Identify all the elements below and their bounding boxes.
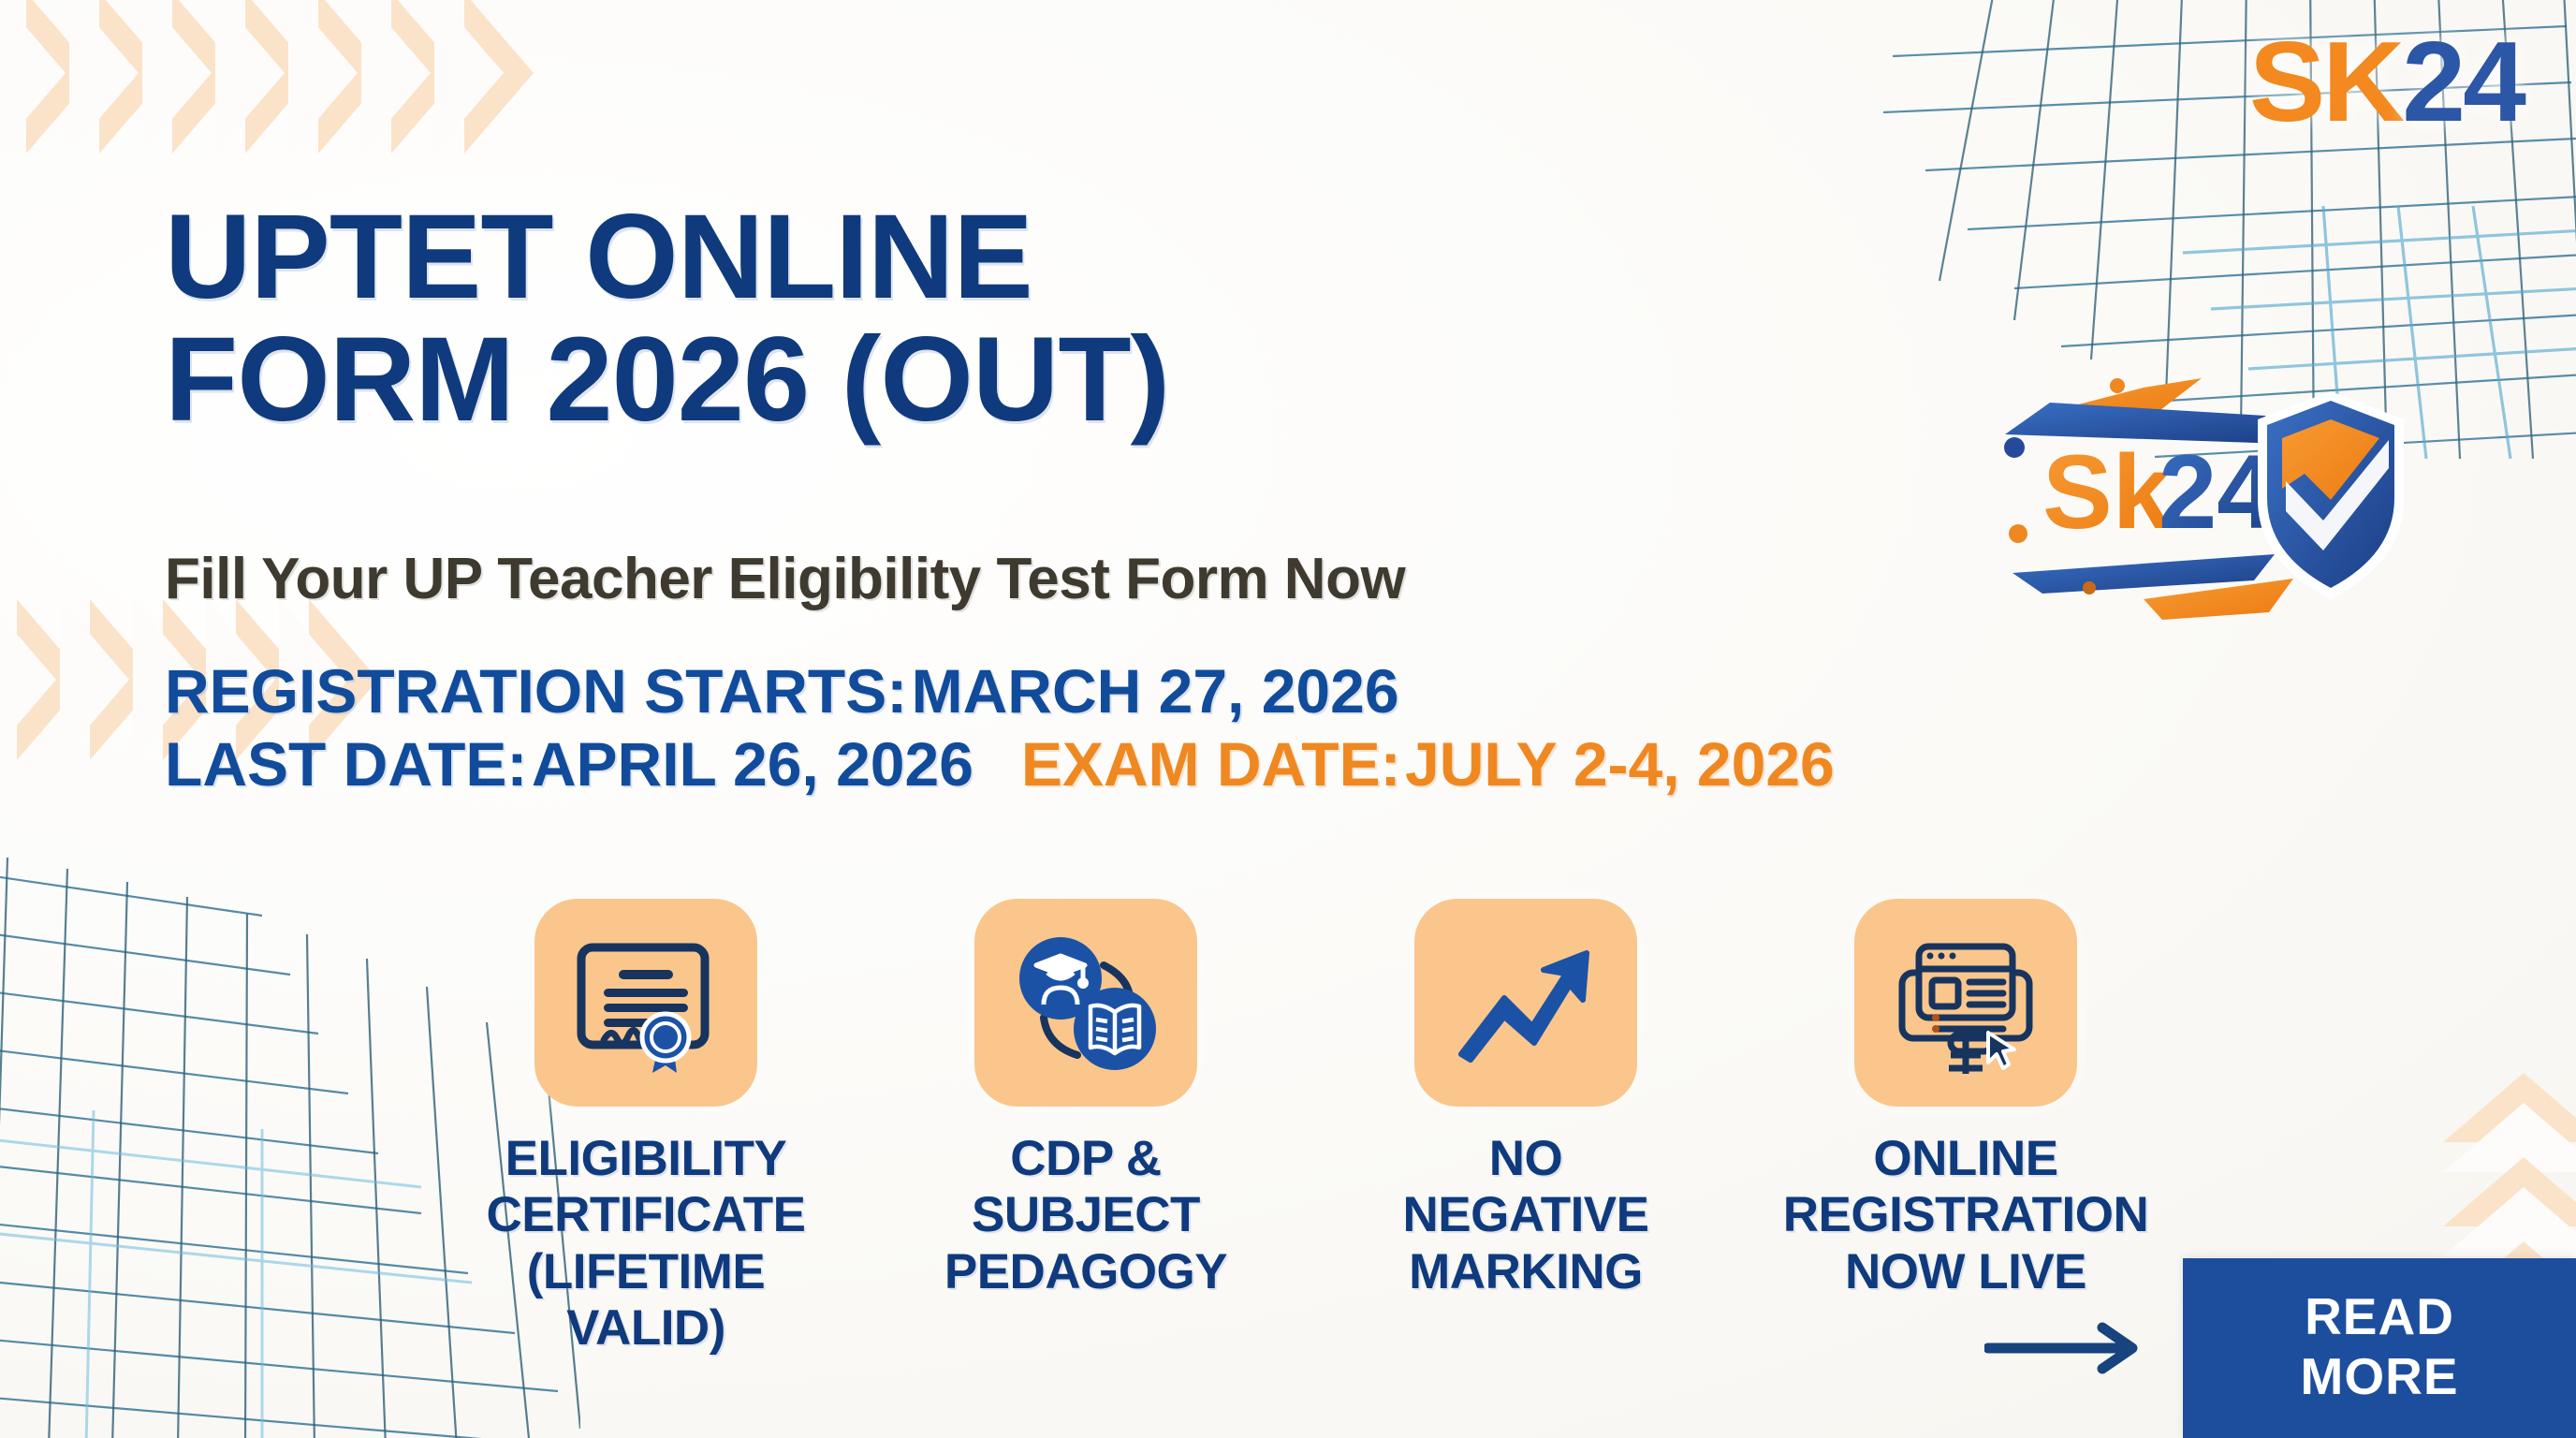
chevron-icon [17, 599, 90, 760]
feature-item: ELIGIBILITY CERTIFICATE (LIFETIME VALID) [449, 899, 842, 1357]
certificate-icon-tile [534, 899, 757, 1107]
headline-line-2: FORM 2026 (OUT) [165, 319, 1169, 442]
chevron-icon [172, 0, 245, 154]
chevron-icon [0, 0, 26, 154]
registration-date-line: REGISTRATION STARTS: MARCH 27, 2026 [165, 655, 1835, 728]
feature-item: NO NEGATIVE MARKING [1329, 899, 1722, 1300]
chevron-icon [464, 0, 537, 154]
chevron-icon [26, 0, 99, 154]
feature-label: ELIGIBILITY CERTIFICATE (LIFETIME VALID) [487, 1131, 806, 1357]
chevron-icon [391, 0, 464, 154]
brand-logo-top[interactable]: SK24 [2249, 24, 2524, 139]
graduate-book-icon [1006, 932, 1165, 1074]
certificate-icon [566, 932, 725, 1073]
chevron-icon [0, 599, 17, 760]
feature-list: ELIGIBILITY CERTIFICATE (LIFETIME VALID) [449, 899, 2162, 1357]
chevron-icon [245, 0, 318, 154]
registration-label: REGISTRATION STARTS: [165, 656, 907, 726]
feature-label: CDP & SUBJECT PEDAGOGY [944, 1131, 1227, 1300]
page-title: UPTET ONLINE FORM 2026 (OUT) [165, 197, 1169, 441]
trending-up-arrow-icon-tile [1414, 899, 1637, 1107]
emblem-text-24: 24 [2159, 433, 2276, 550]
chevron-icon [318, 0, 391, 154]
registration-value: MARCH 27, 2026 [912, 656, 1399, 726]
feature-item: CDP & SUBJECT PEDAGOGY [889, 899, 1282, 1300]
promo-banner: SK24 UPTET ONLINE FORM 2026 (OUT) Fill Y… [0, 0, 2576, 1438]
exam-date-value: JULY 2-4, 2026 [1405, 729, 1835, 799]
feature-item: ONLINE REGISTRATION NOW LIVE [1769, 899, 2162, 1300]
emblem-text-sk: Sk [2042, 433, 2172, 550]
page-subtitle: Fill Your UP Teacher Eligibility Test Fo… [165, 546, 1405, 612]
chevron-up-icon [2443, 1157, 2576, 1241]
read-more-button[interactable]: READ MORE [2183, 1258, 2576, 1438]
online-form-monitor-icon-tile [1854, 899, 2077, 1107]
shield-check-icon [2258, 391, 2404, 599]
last-and-exam-date-line: LAST DATE: APRIL 26, 2026 EXAM DATE: JUL… [165, 728, 1835, 801]
brand-logo-sk: SK [2249, 18, 2402, 145]
headline-line-1: UPTET ONLINE [165, 197, 1169, 319]
chevron-pattern-top-left [0, 0, 537, 154]
key-dates-block: REGISTRATION STARTS: MARCH 27, 2026 LAST… [165, 655, 1835, 801]
brand-logo-24: 24 [2402, 18, 2524, 145]
online-form-monitor-icon [1883, 932, 2048, 1074]
cta-area: READ MORE [1984, 1258, 2576, 1438]
trending-up-arrow-icon [1446, 932, 1605, 1073]
right-arrow-icon [1984, 1314, 2162, 1382]
chevron-icon [90, 599, 163, 760]
graduate-book-icon-tile [974, 899, 1197, 1107]
chevron-icon [99, 0, 172, 154]
last-date-value: APRIL 26, 2026 [532, 729, 973, 799]
chevron-up-icon [2443, 1073, 2576, 1157]
feature-label: NO NEGATIVE MARKING [1403, 1131, 1649, 1300]
brand-emblem-sk24[interactable]: Sk 24 [1956, 358, 2443, 629]
last-date-label: LAST DATE: [165, 729, 527, 799]
exam-date-label: EXAM DATE: [1021, 729, 1401, 799]
